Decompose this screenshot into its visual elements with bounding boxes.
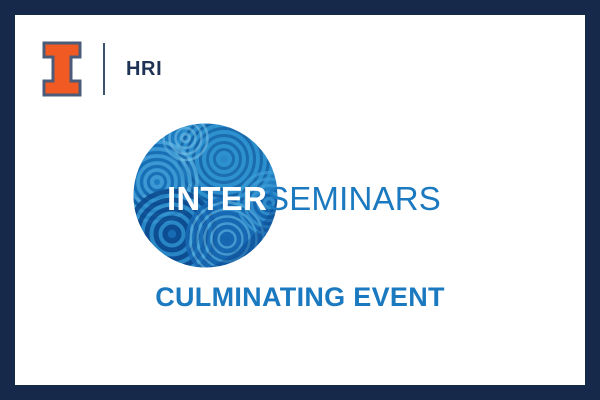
- event-tagline: CULMINATING EVENT: [15, 283, 585, 313]
- interseminars-wordmark: INTERSEMINARS: [15, 181, 585, 217]
- wordmark-seminars: SEMINARS: [267, 180, 441, 217]
- poster-canvas: HRI: [15, 15, 585, 385]
- interseminars-logo: INTERSEMINARS CULMINATING EVENT: [15, 15, 585, 385]
- poster-frame: HRI: [0, 0, 600, 400]
